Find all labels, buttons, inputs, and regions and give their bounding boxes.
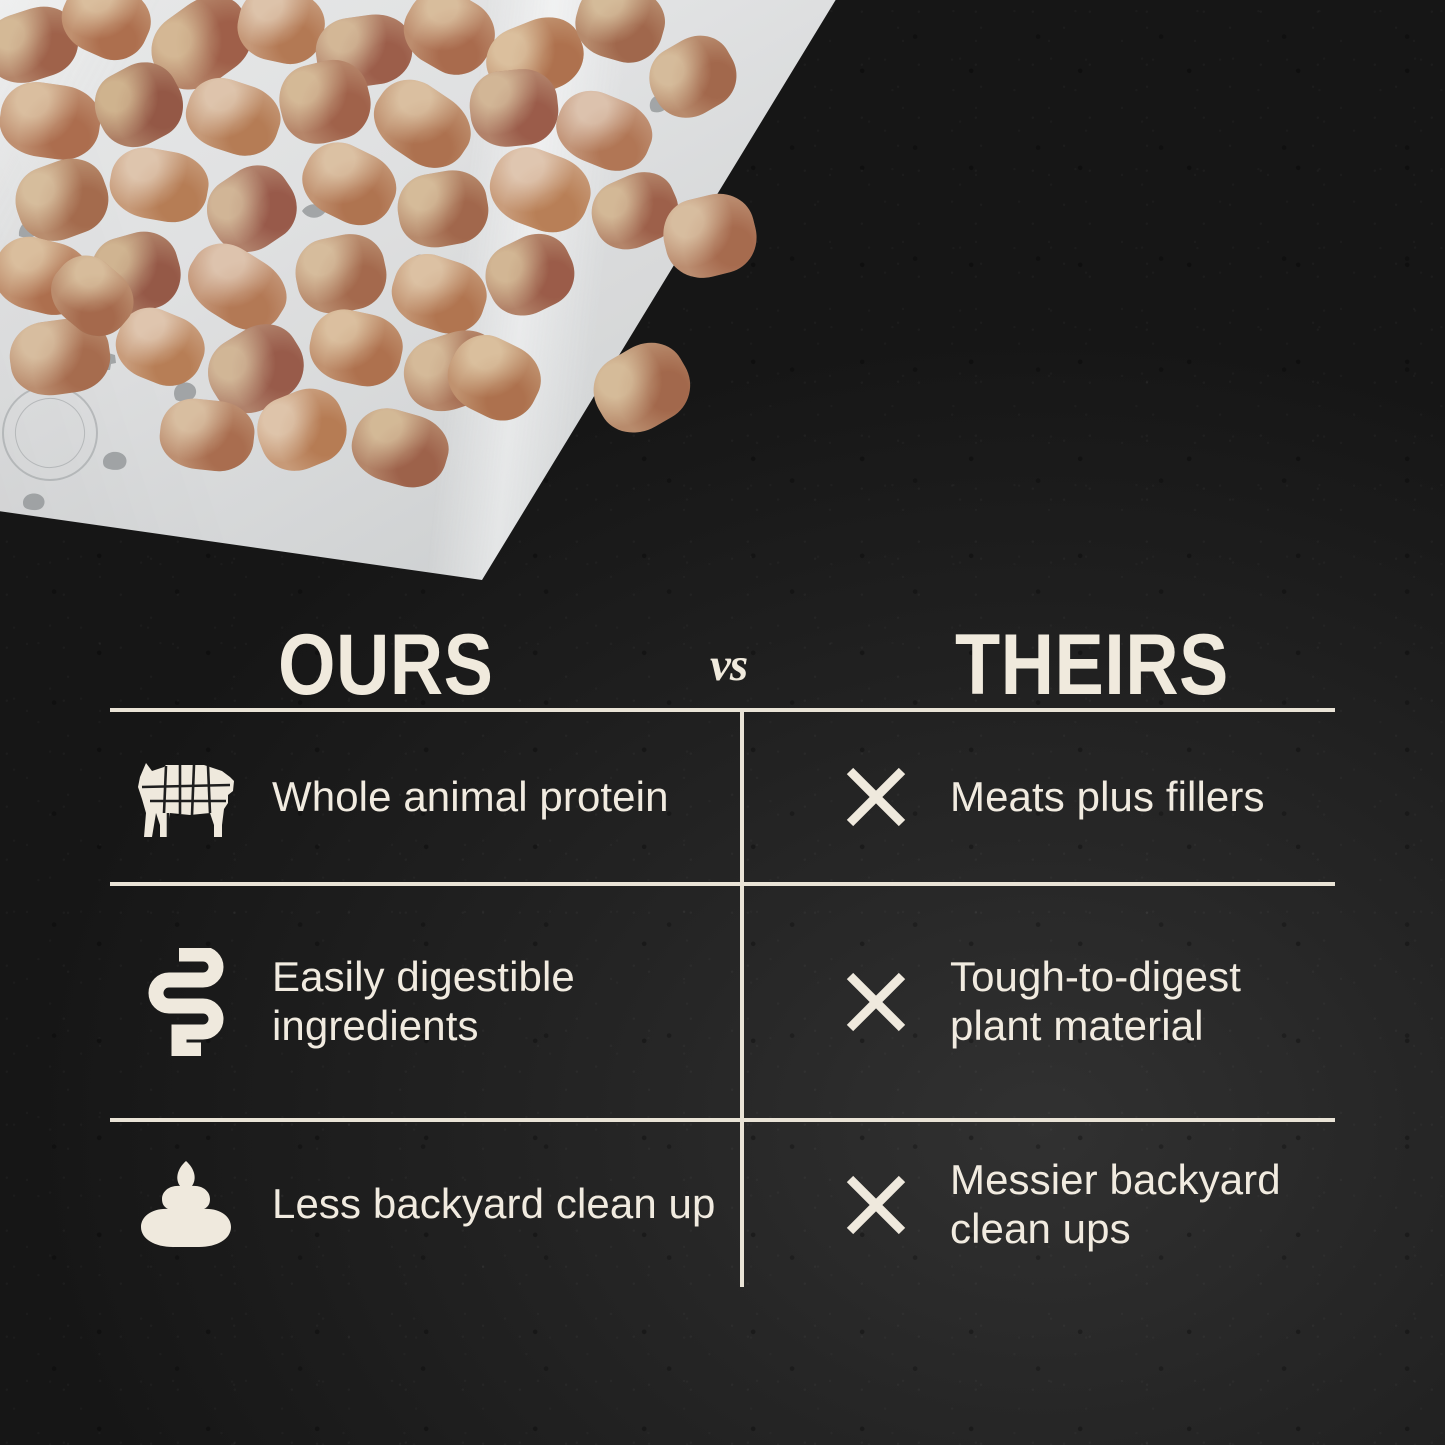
column-header-theirs: THEIRS	[955, 622, 1229, 708]
row-label-ours: Easily digestible ingredients	[272, 953, 730, 1050]
table-vertical-divider	[740, 712, 744, 1287]
row-label-theirs: Messier backyard clean ups	[950, 1156, 1325, 1253]
table-row: Whole animal protein Meats plus fillers	[110, 712, 1335, 882]
x-mark-icon	[828, 970, 924, 1034]
pig-silhouette-print-icon-2	[20, 490, 48, 512]
row-label-theirs: Meats plus fillers	[950, 773, 1265, 822]
row-label-ours: Whole animal protein	[272, 773, 669, 822]
table-row: Easily digestible ingredients Tough-to-d…	[110, 886, 1335, 1118]
table-cell-theirs: Messier backyard clean ups	[740, 1122, 1335, 1287]
table-cell-ours: Less backyard clean up	[110, 1122, 740, 1287]
x-mark-icon	[828, 1173, 924, 1237]
comparison-table: OURS vs THEIRS	[110, 565, 1335, 1287]
poop-icon	[126, 1159, 246, 1251]
column-header-ours: OURS	[278, 622, 493, 708]
row-label-ours: Less backyard clean up	[272, 1180, 715, 1229]
table-cell-theirs: Meats plus fillers	[740, 712, 1335, 882]
table-cell-theirs: Tough-to-digest plant material	[740, 886, 1335, 1118]
row-label-theirs: Tough-to-digest plant material	[950, 953, 1325, 1050]
intestine-digestion-icon	[126, 948, 246, 1056]
table-cell-ours: Easily digestible ingredients	[110, 886, 740, 1118]
x-mark-icon	[828, 765, 924, 829]
product-photo-background: OURS vs THEIRS	[0, 0, 1445, 1445]
pig-silhouette-print-icon	[100, 448, 130, 472]
table-cell-ours: Whole animal protein	[110, 712, 740, 882]
versus-label: vs	[710, 638, 747, 692]
table-body: Whole animal protein Meats plus fillers	[110, 712, 1335, 1287]
comparison-header: OURS vs THEIRS	[110, 565, 1335, 708]
cow-butcher-chart-icon	[126, 751, 246, 843]
table-row: Less backyard clean up Messier backyard …	[110, 1122, 1335, 1287]
